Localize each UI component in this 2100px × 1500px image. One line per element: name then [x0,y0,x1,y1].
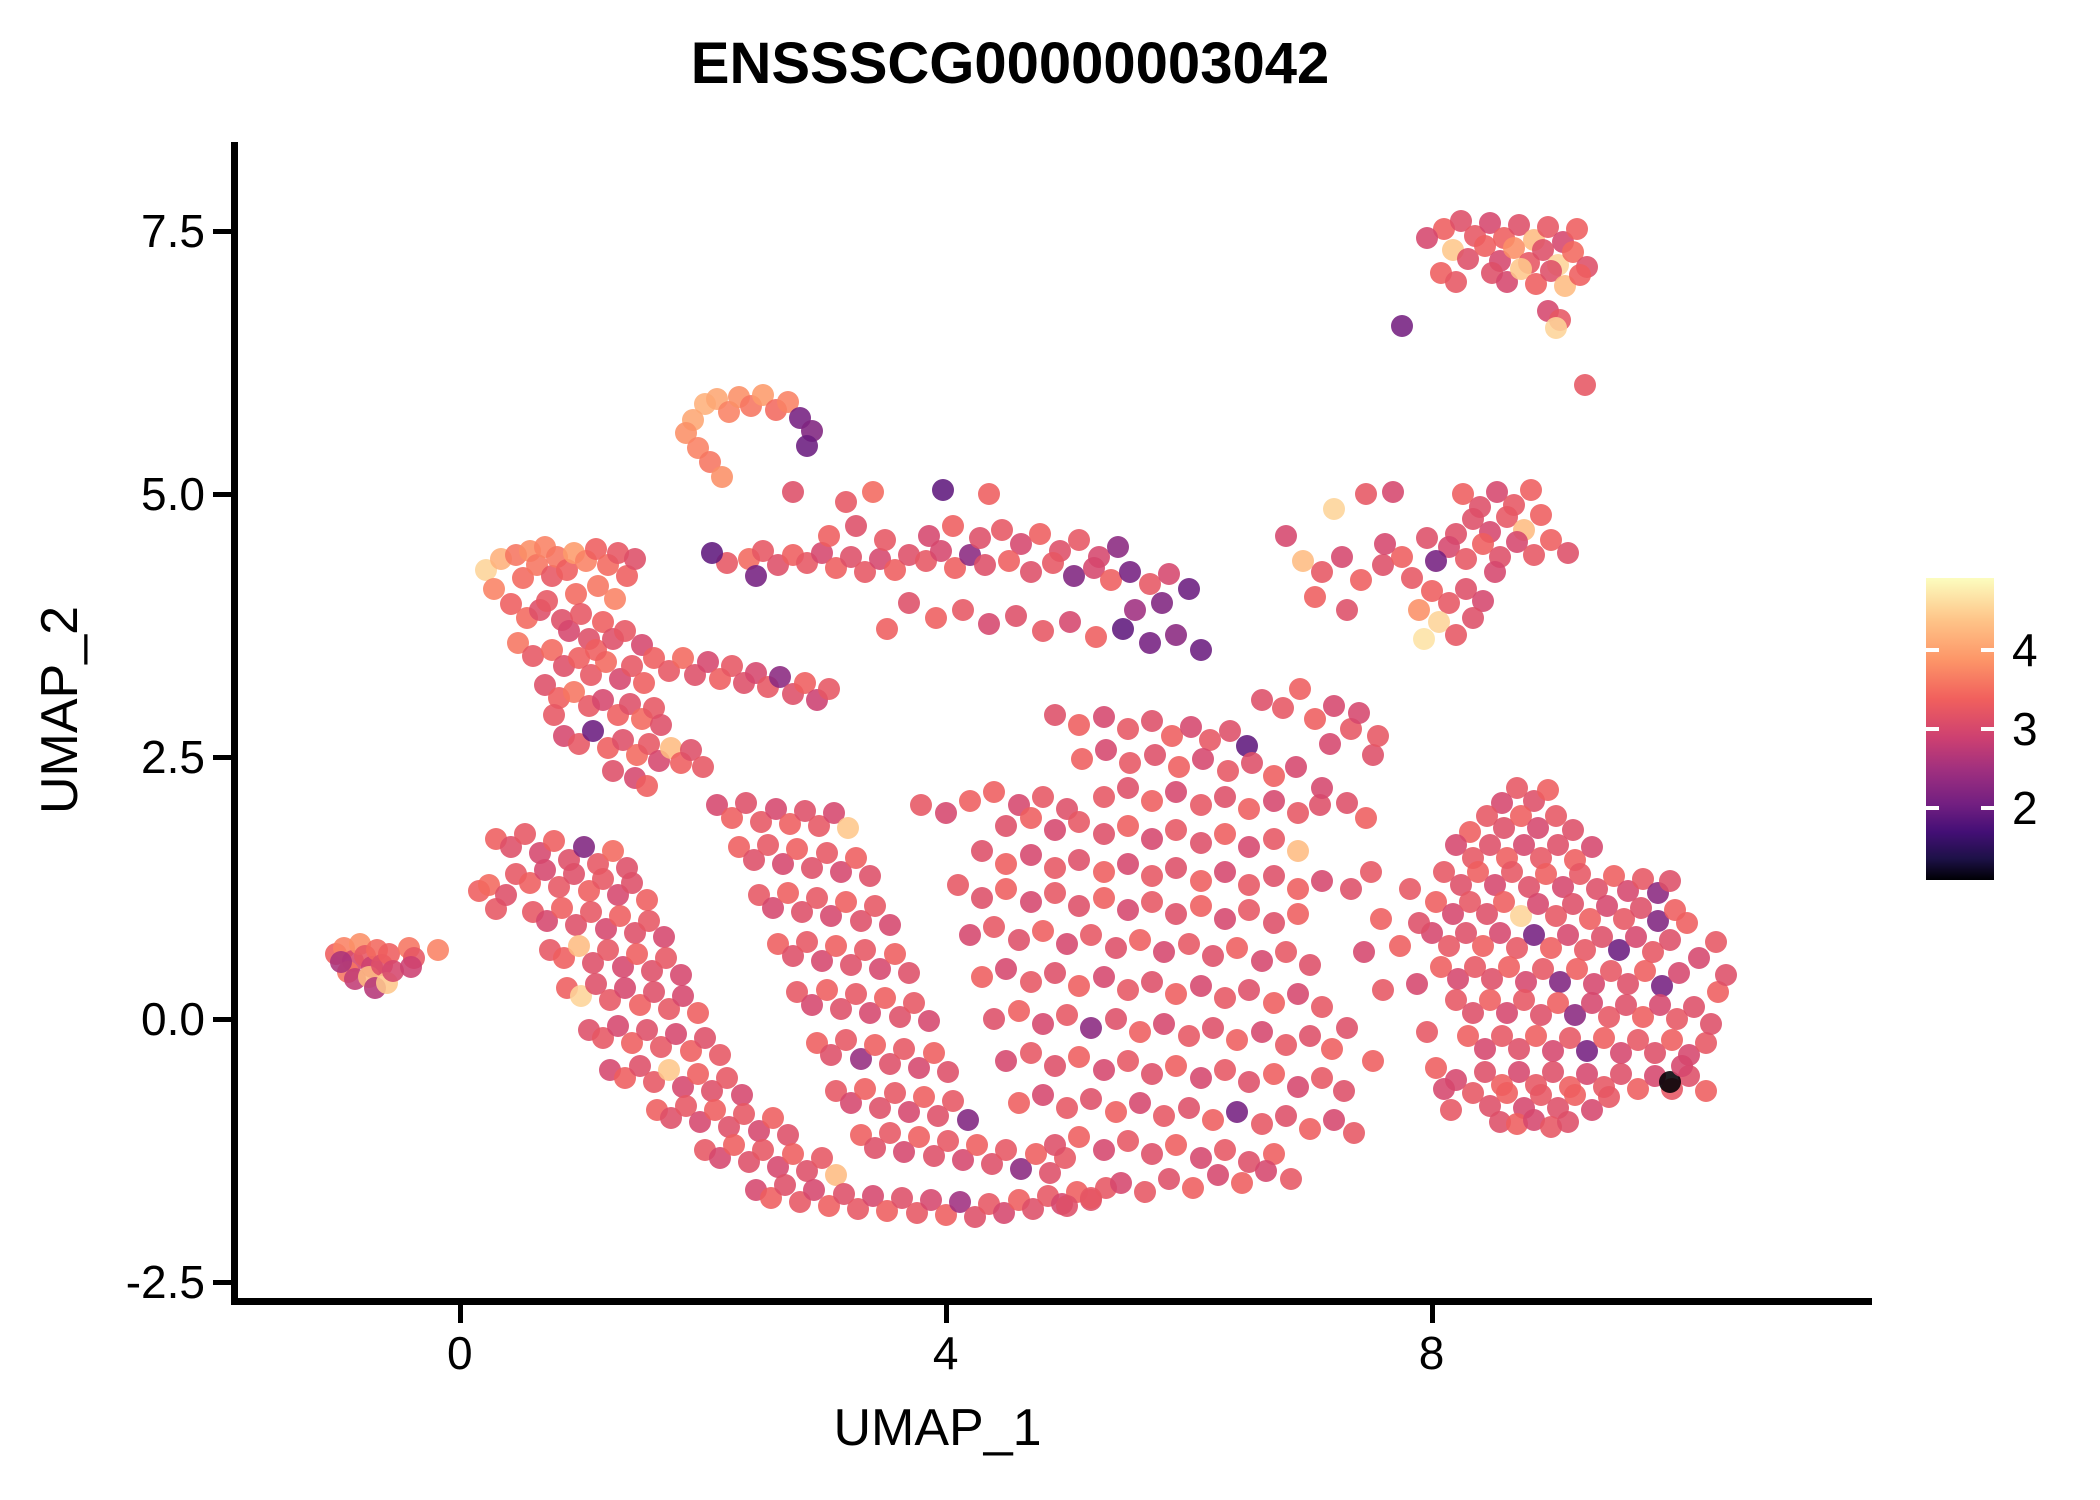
scatter-point [711,466,733,488]
x-axis-tick-label: 4 [933,1326,959,1380]
scatter-point [1020,971,1042,993]
scatter-point [709,1044,731,1066]
scatter-point [1355,483,1377,505]
scatter-point [1671,1055,1693,1077]
scatter-point [1545,317,1567,339]
scatter-point [818,678,840,700]
scatter-point [1445,624,1467,646]
scatter-point [1340,878,1362,900]
scatter-point [1285,756,1307,778]
scatter-point [1217,760,1239,782]
scatter-point [1141,865,1163,887]
colorbar-tick-label: 3 [2012,702,2038,756]
scatter-point [959,790,981,812]
scatter-point [786,838,808,860]
scatter-point [978,483,1000,505]
scatter-point [1144,744,1166,766]
scatter-point [1319,733,1341,755]
scatter-point [854,939,876,961]
scatter-point [1289,678,1311,700]
x-axis-tick [458,1305,463,1323]
scatter-point [1080,1088,1102,1110]
scatter-point [1202,1109,1224,1131]
scatter-point [1566,218,1588,240]
y-axis-tick [213,1280,231,1285]
scatter-point [1141,971,1163,993]
scatter-point [1032,920,1054,942]
scatter-point [1190,870,1212,892]
scatter-point [1117,899,1139,921]
scatter-point [1178,1097,1200,1119]
scatter-point [1214,861,1236,883]
scatter-point [1226,1101,1248,1123]
scatter-point [1192,748,1214,770]
scatter-point [1574,374,1596,396]
scatter-point [1367,725,1389,747]
scatter-point [1311,1067,1333,1089]
scatter-point [1353,941,1375,963]
scatter-point [777,882,799,904]
scatter-point [864,895,886,917]
scatter-point [971,840,993,862]
scatter-point [1455,548,1477,570]
scatter-point [1178,578,1200,600]
scatter-point [1117,1050,1139,1072]
scatter-point [1238,874,1260,896]
scatter-point [1263,992,1285,1014]
scatter-point [854,1078,876,1100]
x-axis-line [231,1298,1872,1305]
scatter-point [1093,1059,1115,1081]
scatter-point [1158,1168,1180,1190]
scatter-point [825,935,847,957]
scatter-point [1139,632,1161,654]
scatter-point [1056,1195,1078,1217]
scatter-point [633,672,655,694]
scatter-point [837,817,859,839]
scatter-point [1350,569,1372,591]
scatter-point [1044,857,1066,879]
scatter-point [995,1050,1017,1072]
scatter-point [1557,1111,1579,1133]
scatter-point [898,592,920,614]
scatter-point [874,987,896,1009]
scatter-point [1032,1013,1054,1035]
scatter-point [835,1029,857,1051]
scatter-point [1676,912,1698,934]
scatter-point [845,983,867,1005]
scatter-point [998,550,1020,572]
x-axis-title: UMAP_1 [0,1398,1875,1458]
scatter-point [1263,790,1285,812]
scatter-point [1158,563,1180,585]
scatter-point [1304,586,1326,608]
scatter-point [514,823,536,845]
scatter-point [1068,714,1090,736]
scatter-point [1598,1086,1620,1108]
scatter-point [1440,1099,1462,1121]
scatter-point [1044,962,1066,984]
scatter-point [1044,882,1066,904]
scatter-point [1020,891,1042,913]
scatter-point [1214,786,1236,808]
scatter-point [884,1082,906,1104]
scatter-point [1275,941,1297,963]
scatter-point [983,916,1005,938]
scatter-point [796,931,818,953]
scatter-point [1323,498,1345,520]
scatter-point [1715,964,1737,986]
scatter-point [624,548,646,570]
colorbar-tick-mark [1981,648,1994,652]
scatter-point [845,847,867,869]
scatter-point [1141,828,1163,850]
scatter-point [1408,599,1430,621]
scatter-point [1190,1147,1212,1169]
scatter-point [942,515,964,537]
scatter-point [947,874,969,896]
scatter-point [1165,857,1187,879]
scatter-point [1287,1076,1309,1098]
scatter-point [1287,878,1309,900]
scatter-point [952,599,974,621]
scatter-point [1287,903,1309,925]
y-axis-tick-label: 2.5 [141,730,205,784]
scatter-point [1141,1063,1163,1085]
page-title: ENSSSCG00000003042 [0,30,2060,97]
scatter-point [1433,1078,1455,1100]
scatter-point [1095,739,1117,761]
scatter-point [1180,716,1202,738]
scatter-point [1688,947,1710,969]
scatter-point [1044,819,1066,841]
scatter-point [957,1109,979,1131]
scatter-point [1153,1105,1175,1127]
scatter-point [910,794,932,816]
scatter-point [1020,844,1042,866]
scatter-point [1105,1101,1127,1123]
scatter-point [1165,624,1187,646]
scatter-point [1141,891,1163,913]
scatter-point [1190,895,1212,917]
scatter-point [978,613,1000,635]
y-axis-tick-label: 5.0 [141,467,205,521]
scatter-point [1214,1059,1236,1081]
scatter-point [932,479,954,501]
scatter-point [1032,620,1054,642]
scatter-point [1659,870,1681,892]
scatter-point [1569,264,1591,286]
scatter-point [1406,973,1428,995]
scatter-point [995,1139,1017,1161]
scatter-point [1336,599,1358,621]
scatter-point [1520,479,1542,501]
scatter-point [816,979,838,1001]
scatter-point [1085,626,1107,648]
scatter-point [995,815,1017,837]
scatter-point [1005,605,1027,627]
scatter-point [1408,912,1430,934]
scatter-point [1705,931,1727,953]
scatter-point [427,939,449,961]
scatter-point [918,525,940,547]
y-axis-title: UMAP_2 [30,310,90,1110]
scatter-point [1391,546,1413,568]
scatter-point [1190,1067,1212,1089]
scatter-point [845,515,867,537]
scatter-point [835,491,857,513]
scatter-point [400,956,422,978]
scatter-point [1287,840,1309,862]
scatter-point [1695,1080,1717,1102]
scatter-point [1372,979,1394,1001]
scatter-point [969,527,991,549]
scatter-point [745,565,767,587]
colorbar-tick-mark [1926,806,1939,810]
scatter-point [1093,786,1115,808]
x-axis-tick-label: 8 [1419,1326,1445,1380]
scatter-point [818,525,840,547]
scatter-point [1093,887,1115,909]
scatter-points-layer [235,142,1875,1301]
scatter-point [565,583,587,605]
scatter-point [1323,1109,1345,1131]
scatter-point [1251,689,1273,711]
scatter-point [1263,828,1285,850]
scatter-point [1355,807,1377,829]
scatter-point [1287,983,1309,1005]
y-axis-tick [213,492,231,497]
scatter-point [1153,941,1175,963]
scatter-point [1168,756,1190,778]
scatter-point [1202,1017,1224,1039]
scatter-point [1020,807,1042,829]
scatter-point [1112,618,1134,640]
scatter-point [1280,1168,1302,1190]
scatter-point [1311,561,1333,583]
scatter-point [604,588,626,610]
scatter-point [966,1134,988,1156]
scatter-point [1399,878,1421,900]
scatter-point [1251,1113,1273,1135]
scatter-point [1413,628,1435,650]
scatter-point [1238,899,1260,921]
scatter-point [1068,849,1090,871]
scatter-point [903,992,925,1014]
scatter-point [1299,954,1321,976]
scatter-point [884,943,906,965]
scatter-point [1068,1126,1090,1148]
scatter-point [995,958,1017,980]
scatter-point [1117,718,1139,740]
scatter-point [1668,962,1690,984]
scatter-point [1425,1057,1447,1079]
scatter-point [1263,865,1285,887]
scatter-point [570,603,592,625]
scatter-point [1299,1025,1321,1047]
scatter-point [1117,815,1139,837]
scatter-point [1117,853,1139,875]
scatter-point [1445,271,1467,293]
scatter-point [1129,929,1151,951]
scatter-point [1044,704,1066,726]
scatter-point [1523,544,1545,566]
scatter-point [1581,836,1603,858]
scatter-point [1042,552,1064,574]
scatter-point [670,964,692,986]
colorbar-tick-mark [1926,648,1939,652]
scatter-point [1093,1139,1115,1161]
scatter-point [1182,1177,1204,1199]
scatter-point [1068,529,1090,551]
scatter-point [1287,802,1309,824]
scatter-point [1032,1084,1054,1106]
scatter-point [923,1042,945,1064]
x-axis-tick [944,1305,949,1323]
scatter-point [692,756,714,778]
scatter-point [1321,1038,1343,1060]
scatter-point [1238,798,1260,820]
scatter-point [1311,777,1333,799]
scatter-point [1251,950,1273,972]
scatter-point [1299,1118,1321,1140]
scatter-point [1304,708,1326,730]
scatter-point [1226,937,1248,959]
scatter-point [1165,983,1187,1005]
scatter-point [1343,1122,1365,1144]
scatter-point [937,1061,959,1083]
scatter-point [1093,861,1115,883]
scatter-point [995,878,1017,900]
scatter-point [1311,996,1333,1018]
scatter-point [1537,779,1559,801]
scatter-point [1020,561,1042,583]
scatter-point [1071,748,1093,770]
scatter-point [908,1126,930,1148]
scatter-point [959,924,981,946]
scatter-point [1068,895,1090,917]
scatter-point [983,781,1005,803]
scatter-point [1241,752,1263,774]
scatter-point [913,1086,935,1108]
scatter-point [937,1130,959,1152]
scatter-point [687,1002,709,1024]
scatter-point [1165,903,1187,925]
scatter-point [536,590,558,612]
scatter-point [974,554,996,576]
scatter-point [1105,1008,1127,1030]
colorbar-tick-mark [1981,727,1994,731]
y-axis-line [231,142,238,1305]
scatter-point [1238,979,1260,1001]
scatter-point [1214,1139,1236,1161]
scatter-point [1275,1105,1297,1127]
scatter-point [991,519,1013,541]
scatter-point [806,887,828,909]
colorbar-tick-label: 4 [2012,623,2038,677]
colorbar-tick-mark [1981,806,1994,810]
scatter-point [1263,912,1285,934]
scatter-point [918,1010,940,1032]
scatter-point [1141,1143,1163,1165]
scatter-point [1044,1055,1066,1077]
scatter-point [1425,550,1447,572]
scatter-point [1080,924,1102,946]
scatter-point [636,775,658,797]
scatter-point [1255,1160,1277,1182]
scatter-point [1700,1013,1722,1035]
scatter-point [1659,929,1681,951]
scatter-point [1238,836,1260,858]
scatter-point [1360,861,1382,883]
scatter-point [1214,908,1236,930]
scatter-point [1151,592,1173,614]
scatter-point [1362,1050,1384,1072]
scatter-point [1008,1092,1030,1114]
scatter-point [653,926,675,948]
scatter-point [1153,1013,1175,1035]
scatter-point [1124,599,1146,621]
y-axis-tick [213,229,231,234]
scatter-point [1275,525,1297,547]
scatter-point [983,1008,1005,1030]
scatter-point [1226,1029,1248,1051]
scatter-point [864,1034,886,1056]
scatter-point [1272,697,1294,719]
scatter-point [1214,823,1236,845]
scatter-point [935,802,957,824]
scatter-point [543,830,565,852]
scatter-point [1117,979,1139,1001]
scatter-point [1165,1055,1187,1077]
scatter-point [925,607,947,629]
scatter-point [1683,996,1705,1018]
y-axis-tick [213,755,231,760]
scatter-point [1275,1034,1297,1056]
scatter-point [796,435,818,457]
y-axis-tick-label: -2.5 [126,1255,205,1309]
scatter-point [1134,1181,1156,1203]
scatter-point [330,951,352,973]
scatter-point [1020,1042,1042,1064]
scatter-point [1362,744,1384,766]
scatter-point [1231,1172,1253,1194]
scatter-point [1263,1063,1285,1085]
scatter-point [1068,975,1090,997]
scatter-point [1333,1080,1355,1102]
scatter-point [1068,811,1090,833]
colorbar-tick-mark [1926,727,1939,731]
y-axis-tick [213,1017,231,1022]
scatter-point [1178,933,1200,955]
scatter-point [1238,1071,1260,1093]
scatter-point [1165,819,1187,841]
y-axis-tick-label: 0.0 [141,992,205,1046]
scatter-point [1416,527,1438,549]
scatter-point [1056,1097,1078,1119]
scatter-point [1202,945,1224,967]
scatter-point [862,481,884,503]
scatter-point [1416,1021,1438,1043]
scatter-point [1190,639,1212,661]
scatter-point [1391,315,1413,337]
scatter-point [816,842,838,864]
colorbar-tick-label: 2 [2012,781,2038,835]
scatter-point [602,760,624,782]
scatter-point [782,481,804,503]
scatter-point [1119,752,1141,774]
scatter-point [893,1038,915,1060]
